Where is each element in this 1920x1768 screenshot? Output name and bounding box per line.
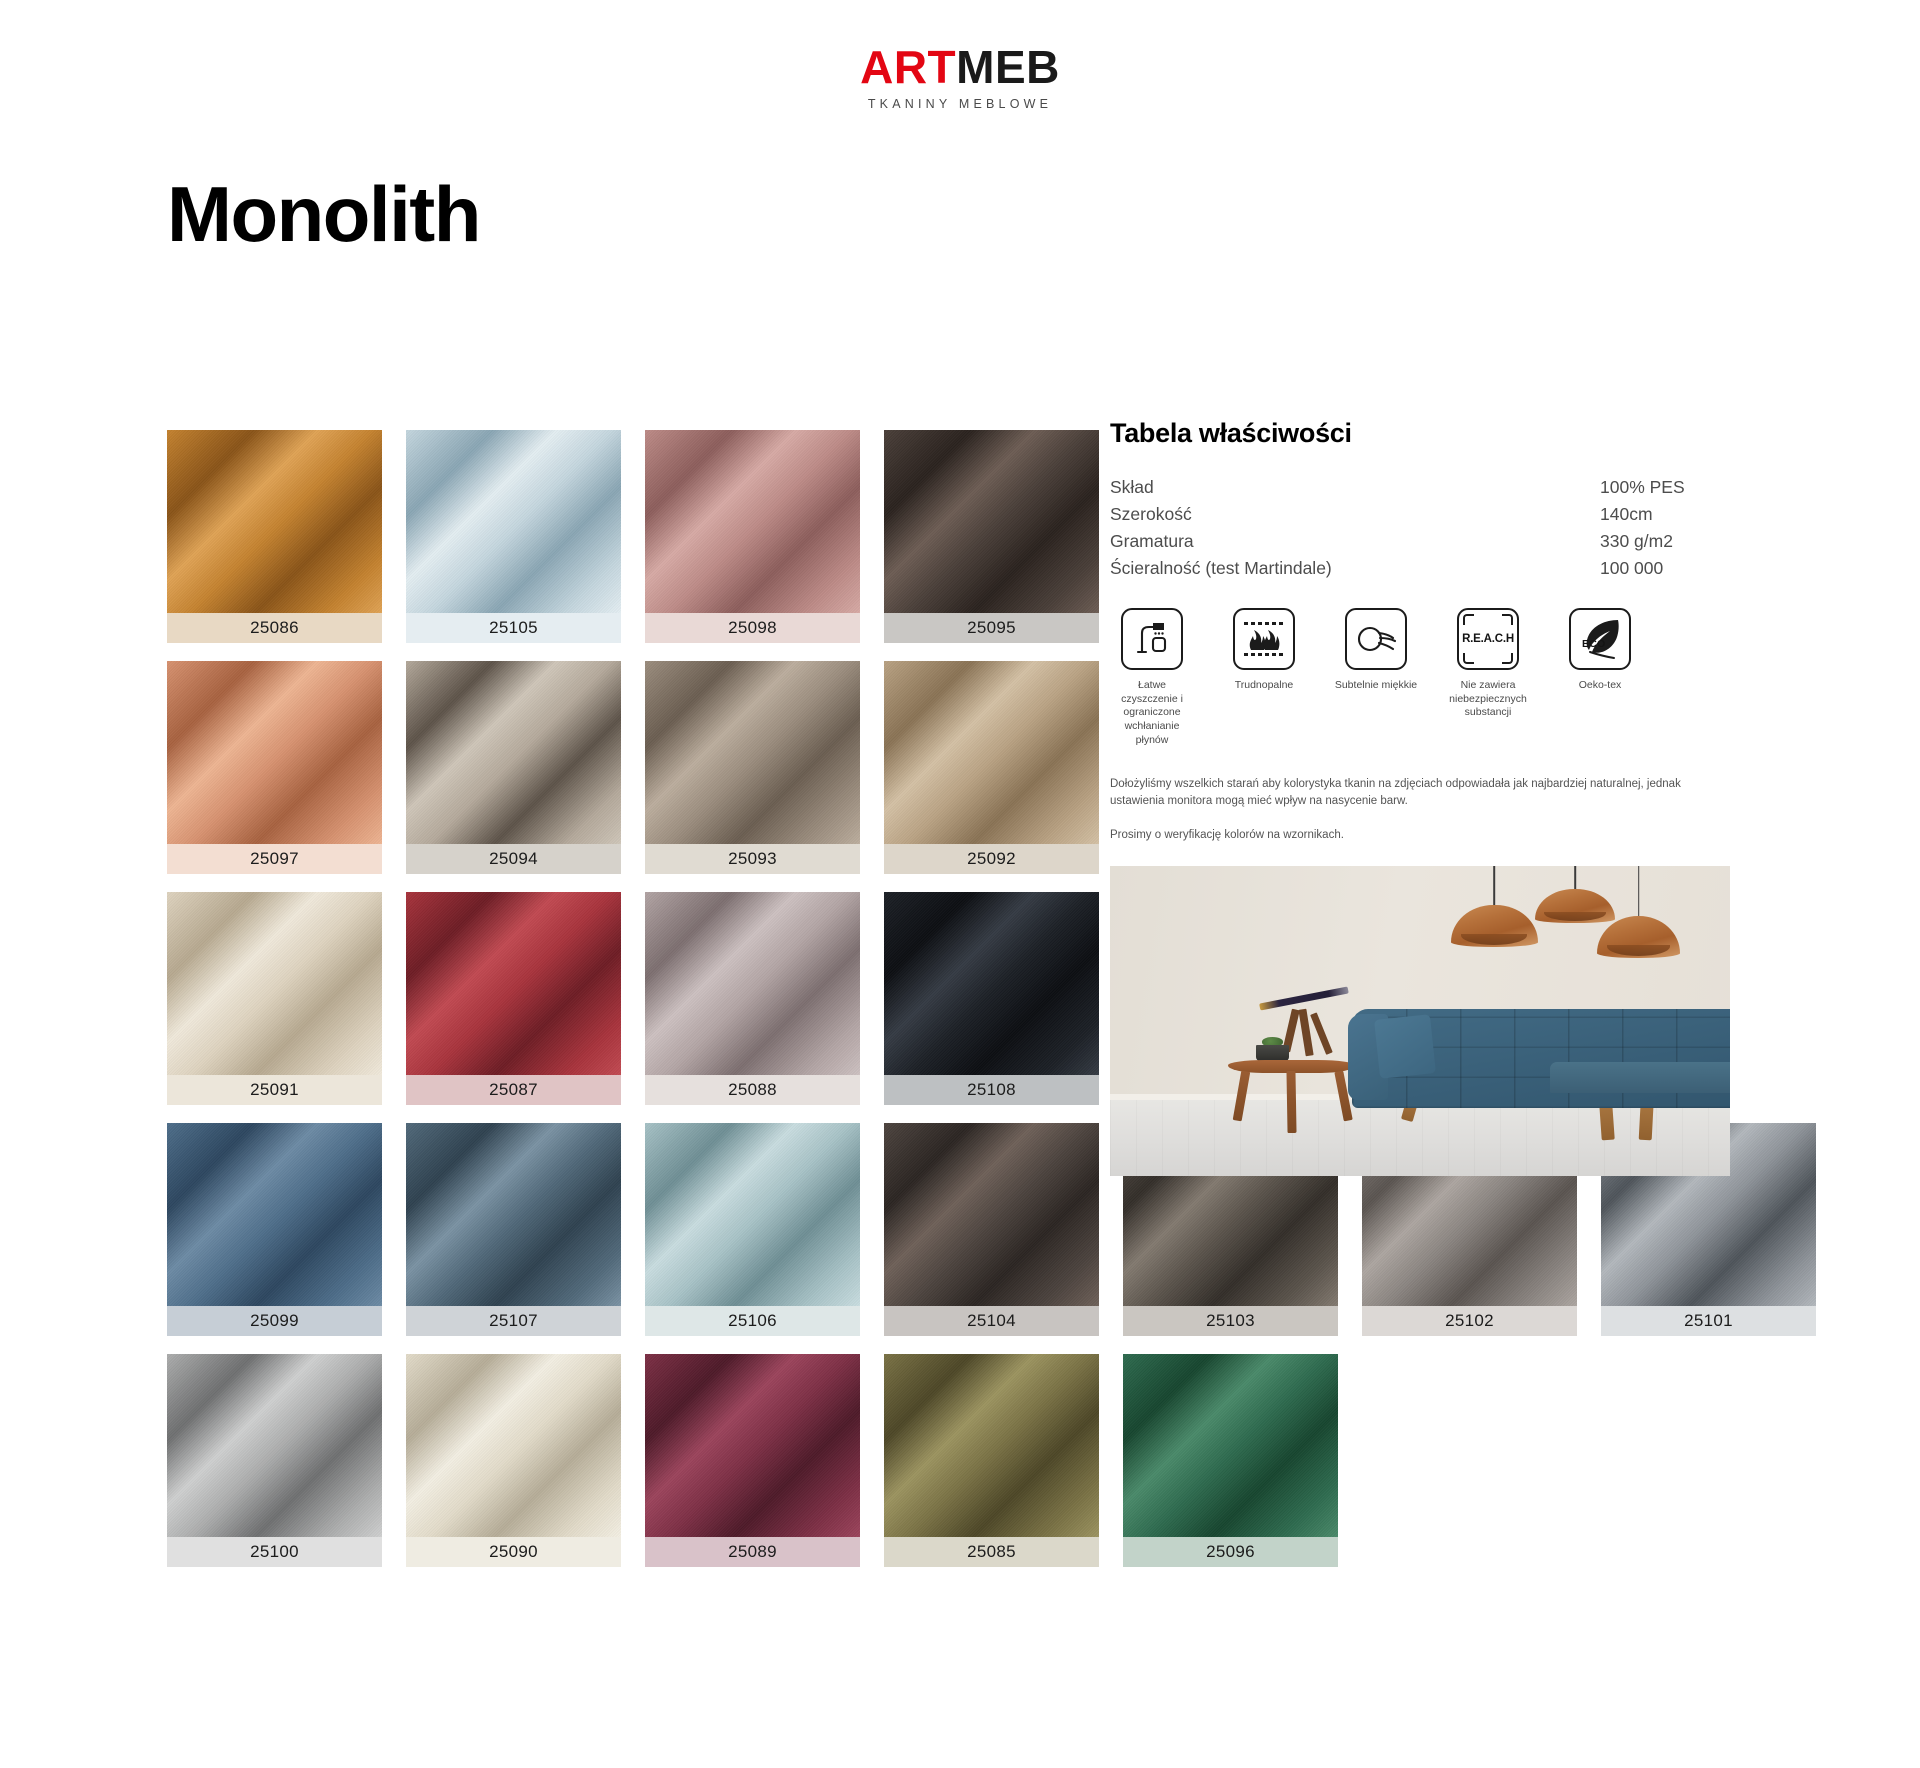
- swatch-code-label: 25086: [167, 613, 382, 643]
- swatch-image[interactable]: [884, 1123, 1099, 1306]
- swatch-image[interactable]: [884, 892, 1099, 1075]
- property-value: 330 g/m2: [1570, 530, 1730, 557]
- pendant-lamp-left: [1451, 866, 1538, 953]
- swatch-image[interactable]: [167, 430, 382, 613]
- icon-item-soft-touch: Subtelnie miękkie: [1334, 608, 1418, 749]
- swatch-code-label: 25105: [406, 613, 621, 643]
- swatch-image[interactable]: [406, 892, 621, 1075]
- disclaimer-paragraph-1: Dołożyliśmy wszelkich starań aby kolorys…: [1110, 776, 1730, 810]
- swatch-code-label: 25102: [1362, 1306, 1577, 1336]
- property-label: Gramatura: [1110, 530, 1570, 557]
- swatch-image[interactable]: [645, 1123, 860, 1306]
- swatch-item[interactable]: 25098: [645, 430, 860, 643]
- swatch-item[interactable]: 25085: [884, 1354, 1099, 1567]
- swatch-image[interactable]: [884, 661, 1099, 844]
- swatch-code-label: 25101: [1601, 1306, 1816, 1336]
- lamp-cord-center: [1574, 866, 1576, 889]
- flame-retardant-icon: [1233, 608, 1295, 670]
- swatch-code-label: 25096: [1123, 1537, 1338, 1567]
- swatch-item[interactable]: 25099: [167, 1123, 382, 1336]
- logo-tagline: TKANINY MEBLOWE: [0, 97, 1920, 111]
- swatch-image[interactable]: [1123, 1354, 1338, 1537]
- lamp-inner-right: [1607, 945, 1671, 956]
- swatch-item[interactable]: 25104: [884, 1123, 1099, 1336]
- swatch-image[interactable]: [167, 661, 382, 844]
- properties-row: Ścieralność (test Martindale)100 000: [1110, 557, 1730, 584]
- swatch-item[interactable]: 25106: [645, 1123, 860, 1336]
- pendant-lamp-right: [1597, 866, 1681, 962]
- dash-line-bottom: [1244, 653, 1284, 656]
- color-disclaimer: Dołożyliśmy wszelkich starań aby kolorys…: [1110, 776, 1730, 844]
- logo-art-text: ART: [860, 41, 956, 93]
- swatch-code-label: 25091: [167, 1075, 382, 1105]
- properties-row: Szerokość140cm: [1110, 503, 1730, 530]
- property-label: Szerokość: [1110, 503, 1570, 530]
- eco-badge-text: ECO: [1582, 638, 1606, 650]
- swatch-code-label: 25098: [645, 613, 860, 643]
- corner-top-right: [1502, 614, 1513, 625]
- swatch-image[interactable]: [167, 1123, 382, 1306]
- lamp-cord-left: [1494, 866, 1496, 905]
- sofa-cushion: [1374, 1014, 1436, 1078]
- swatch-code-label: 25095: [884, 613, 1099, 643]
- property-label: Ścieralność (test Martindale): [1110, 557, 1570, 584]
- reach-caption: Nie zawiera niebezpiecznych substancji: [1446, 679, 1530, 721]
- swatch-image[interactable]: [167, 1354, 382, 1537]
- swatch-item[interactable]: 25107: [406, 1123, 621, 1336]
- swatch-code-label: 25089: [645, 1537, 860, 1567]
- icon-item-flame-retardant: Trudnopalne: [1222, 608, 1306, 749]
- reach-icon: R.E.A.C.H: [1457, 608, 1519, 670]
- certification-icons-row: Łatwe czyszczenie i ograniczone wchłania…: [1110, 608, 1730, 749]
- page-title: Monolith: [167, 175, 480, 253]
- corner-bottom-left: [1463, 653, 1474, 664]
- properties-row: Skład100% PES: [1110, 476, 1730, 503]
- sofa-seat-front: [1550, 1062, 1730, 1093]
- swatch-code-label: 25088: [645, 1075, 860, 1105]
- swatch-image[interactable]: [406, 1354, 621, 1537]
- swatch-item[interactable]: 25105: [406, 430, 621, 643]
- lamp-dome-right: [1597, 916, 1681, 957]
- oeko-tex-icon: ECO: [1569, 608, 1631, 670]
- swatch-code-label: 25104: [884, 1306, 1099, 1336]
- swatch-item[interactable]: 25089: [645, 1354, 860, 1567]
- corner-top-left: [1463, 614, 1474, 625]
- flame-retardant-caption: Trudnopalne: [1222, 679, 1306, 693]
- swatch-code-label: 25094: [406, 844, 621, 874]
- swatch-item[interactable]: 25094: [406, 661, 621, 874]
- swatch-image[interactable]: [884, 1354, 1099, 1537]
- corner-bottom-right: [1502, 653, 1513, 664]
- soft-touch-caption: Subtelnie miękkie: [1334, 679, 1418, 693]
- properties-panel: Tabela właściwości Skład100% PESSzerokoś…: [1110, 418, 1730, 1176]
- flame-strip: [1244, 622, 1284, 656]
- logo-wordmark: ARTMEB: [860, 44, 1060, 90]
- reach-badge-text: R.E.A.C.H: [1462, 633, 1514, 645]
- swatch-image[interactable]: [645, 1354, 860, 1537]
- logo-meb-text: MEB: [956, 41, 1060, 93]
- swatch-code-label: 25108: [884, 1075, 1099, 1105]
- swatch-image[interactable]: [406, 1123, 621, 1306]
- swatch-code-label: 25106: [645, 1306, 860, 1336]
- swatch-item[interactable]: 25100: [167, 1354, 382, 1567]
- property-value: 100% PES: [1570, 476, 1730, 503]
- property-value: 100 000: [1570, 557, 1730, 584]
- dash-line-top: [1244, 622, 1284, 625]
- swatch-item[interactable]: 25088: [645, 892, 860, 1105]
- swatch-image[interactable]: [167, 892, 382, 1075]
- swatch-code-label: 25107: [406, 1306, 621, 1336]
- swatch-code-label: 25093: [645, 844, 860, 874]
- brand-logo: ARTMEB TKANINY MEBLOWE: [0, 44, 1920, 111]
- swatch-code-label: 25103: [1123, 1306, 1338, 1336]
- swatch-image[interactable]: [406, 430, 621, 613]
- swatch-item[interactable]: 25091: [167, 892, 382, 1105]
- plant-pot: [1256, 1045, 1289, 1061]
- swatch-code-label: 25100: [167, 1537, 382, 1567]
- swatch-item[interactable]: 25097: [167, 661, 382, 874]
- properties-table-body: Skład100% PESSzerokość140cmGramatura330 …: [1110, 476, 1730, 584]
- lamp-dome-left: [1451, 905, 1538, 947]
- property-label: Skład: [1110, 476, 1570, 503]
- swatch-item[interactable]: 25086: [167, 430, 382, 643]
- swatch-item[interactable]: 25095: [884, 430, 1099, 643]
- swatch-item[interactable]: 25096: [1123, 1354, 1338, 1567]
- photo-floor: [1110, 1100, 1730, 1176]
- properties-table: Skład100% PESSzerokość140cmGramatura330 …: [1110, 476, 1730, 584]
- easy-clean-caption: Łatwe czyszczenie i ograniczone wchłania…: [1110, 679, 1194, 749]
- coffee-table-leg-2: [1286, 1071, 1296, 1133]
- properties-row: Gramatura330 g/m2: [1110, 530, 1730, 557]
- swatch-item[interactable]: 25090: [406, 1354, 621, 1567]
- lamp-cord-right: [1638, 866, 1640, 916]
- swatch-item[interactable]: 25087: [406, 892, 621, 1105]
- swatch-item[interactable]: 25092: [884, 661, 1099, 874]
- swatch-code-label: 25087: [406, 1075, 621, 1105]
- swatch-code-label: 25090: [406, 1537, 621, 1567]
- property-value: 140cm: [1570, 503, 1730, 530]
- oeko-tex-caption: Oeko-tex: [1558, 679, 1642, 693]
- swatch-code-label: 25097: [167, 844, 382, 874]
- eco-leaf-group: ECO: [1574, 616, 1626, 662]
- swatch-row: 2510025090250892508525096: [167, 1354, 1727, 1567]
- lamp-inner-left: [1461, 934, 1527, 945]
- swatch-image[interactable]: [645, 892, 860, 1075]
- disclaimer-paragraph-2: Prosimy o weryfikację kolorów na wzornik…: [1110, 827, 1730, 844]
- swatch-image[interactable]: [884, 430, 1099, 613]
- swatch-item[interactable]: 25093: [645, 661, 860, 874]
- properties-heading: Tabela właściwości: [1110, 418, 1730, 449]
- swatch-image[interactable]: [645, 661, 860, 844]
- swatch-code-label: 25099: [167, 1306, 382, 1336]
- interior-photo: [1110, 866, 1730, 1176]
- icon-item-oeko-tex: ECO Oeko-tex: [1558, 608, 1642, 749]
- swatch-code-label: 25092: [884, 844, 1099, 874]
- reach-badge: R.E.A.C.H: [1461, 612, 1515, 666]
- easy-clean-icon: [1121, 608, 1183, 670]
- swatch-image[interactable]: [645, 430, 860, 613]
- soft-touch-icon: [1345, 608, 1407, 670]
- icon-item-reach: R.E.A.C.H Nie zawiera niebezpiecznych su…: [1446, 608, 1530, 749]
- swatch-image[interactable]: [406, 661, 621, 844]
- swatch-code-label: 25085: [884, 1537, 1099, 1567]
- icon-item-easy-clean: Łatwe czyszczenie i ograniczone wchłania…: [1110, 608, 1194, 749]
- swatch-item[interactable]: 25108: [884, 892, 1099, 1105]
